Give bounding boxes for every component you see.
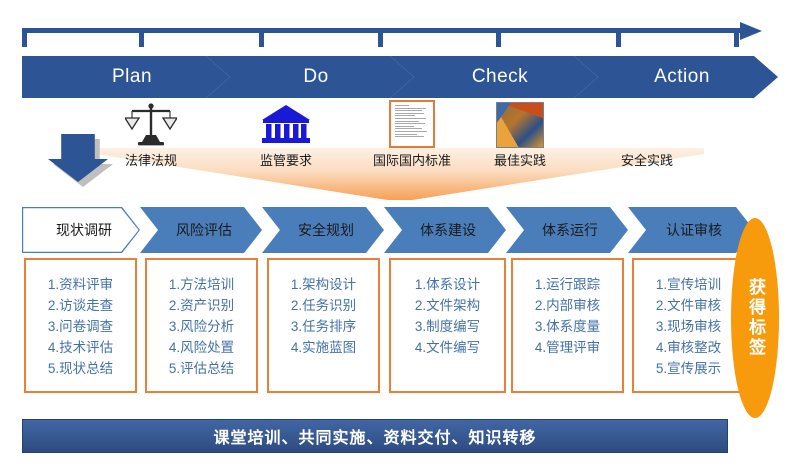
timeline-tick — [496, 33, 501, 47]
detail-item: 2.文件审核 — [656, 295, 721, 316]
detail-item: 2.内部审核 — [535, 295, 600, 316]
detail-item: 4.管理评审 — [535, 337, 600, 358]
detail-list: 1.架构设计 2.任务识别 3.任务排序 4.实施蓝图 — [291, 274, 356, 358]
input-item-securitypractice: 安全实践 — [597, 100, 697, 169]
step-arrow-3[interactable]: 安全规划 — [262, 207, 384, 253]
photo-thumbnail-icon — [477, 100, 563, 148]
pdca-phase-plan[interactable]: Plan — [22, 56, 230, 98]
detail-box-6: 1.宣传培训 2.文件审核 3.现场审核 4.审核整改 5.宣传展示 — [632, 258, 745, 393]
detail-item: 1.运行跟踪 — [535, 274, 600, 295]
detail-item: 1.宣传培训 — [656, 274, 721, 295]
detail-item: 4.技术评估 — [48, 337, 113, 358]
detail-list: 1.方法培训 2.资产识别 3.风险分析 4.风险处置 5.评估总结 — [169, 274, 234, 379]
step-arrow-1[interactable]: 现状调研 — [22, 207, 140, 253]
step-arrow-5[interactable]: 体系运行 — [506, 207, 628, 253]
detail-item: 5.现状总结 — [48, 358, 113, 379]
detail-item: 2.资产识别 — [169, 295, 234, 316]
right-arrow-icon — [740, 22, 762, 40]
empty-icon-slot — [597, 100, 697, 148]
detail-item: 5.宣传展示 — [656, 358, 721, 379]
detail-item: 1.体系设计 — [415, 274, 480, 295]
step-label: 风险评估 — [176, 220, 232, 240]
slide-canvas: Plan Do Check Action — [0, 0, 800, 467]
status-badge-label: 获得标签 — [744, 278, 766, 358]
step-label: 安全规划 — [298, 220, 354, 240]
detail-box-1: 1.资料评审 2.访谈走查 3.问卷调查 4.技术评估 5.现状总结 — [24, 258, 137, 393]
pdca-chevron-bar: Plan Do Check Action — [22, 56, 778, 98]
pdca-phase-action[interactable]: Action — [574, 56, 778, 98]
detail-item: 3.任务排序 — [291, 316, 356, 337]
timeline-tick — [259, 33, 264, 47]
detail-item: 3.制度编写 — [415, 316, 480, 337]
status-badge[interactable]: 获得标签 — [731, 218, 779, 418]
scales-of-justice-icon — [108, 100, 194, 148]
timeline-tick — [139, 33, 144, 47]
detail-item: 1.架构设计 — [291, 274, 356, 295]
detail-item: 5.评估总结 — [169, 358, 234, 379]
step-label: 体系建设 — [420, 220, 476, 240]
detail-item: 1.资料评审 — [48, 274, 113, 295]
detail-box-2: 1.方法培训 2.资产识别 3.风险分析 4.风险处置 5.评估总结 — [145, 258, 258, 393]
input-item-label: 最佳实践 — [477, 150, 563, 169]
step-arrow-2[interactable]: 风险评估 — [140, 207, 262, 253]
input-item-label: 监管要求 — [243, 150, 329, 169]
step-label: 现状调研 — [56, 220, 112, 240]
process-timeline — [22, 28, 778, 50]
pdca-phase-do[interactable]: Do — [206, 56, 414, 98]
pdca-phase-label: Action — [654, 66, 710, 88]
input-item-label: 国际国内标准 — [357, 150, 467, 169]
detail-list: 1.宣传培训 2.文件审核 3.现场审核 4.审核整改 5.宣传展示 — [656, 274, 721, 379]
detail-item: 3.现场审核 — [656, 316, 721, 337]
detail-item: 1.方法培训 — [169, 274, 234, 295]
detail-box-5: 1.运行跟踪 2.内部审核 3.体系度量 4.管理评审 — [511, 258, 624, 393]
detail-item: 4.实施蓝图 — [291, 337, 356, 358]
input-item-laws: 法律法规 — [108, 100, 194, 169]
pdca-phase-label: Plan — [112, 66, 152, 88]
step-label: 体系运行 — [542, 220, 598, 240]
pdca-phase-label: Check — [472, 66, 528, 88]
timeline-tick — [616, 33, 621, 47]
detail-item: 3.问卷调查 — [48, 316, 113, 337]
document-page-icon — [357, 100, 467, 148]
bank-building-icon — [243, 100, 329, 148]
step-arrow-4[interactable]: 体系建设 — [384, 207, 506, 253]
detail-item: 4.审核整改 — [656, 337, 721, 358]
detail-item: 2.访谈走查 — [48, 295, 113, 316]
input-item-bestpractice: 最佳实践 — [477, 100, 563, 169]
step-label: 认证审核 — [666, 220, 722, 240]
detail-list: 1.资料评审 2.访谈走查 3.问卷调查 4.技术评估 5.现状总结 — [48, 274, 113, 379]
detail-list: 1.运行跟踪 2.内部审核 3.体系度量 4.管理评审 — [535, 274, 600, 358]
step-arrow-6[interactable]: 认证审核 — [628, 207, 754, 253]
timeline-tick — [734, 33, 739, 47]
detail-list: 1.体系设计 2.文件架构 3.制度编写 4.文件编写 — [415, 274, 480, 358]
input-item-label: 安全实践 — [597, 150, 697, 169]
detail-item: 4.风险处置 — [169, 337, 234, 358]
detail-box-3: 1.架构设计 2.任务识别 3.任务排序 4.实施蓝图 — [267, 258, 380, 393]
detail-item: 2.文件架构 — [415, 295, 480, 316]
detail-item: 2.任务识别 — [291, 295, 356, 316]
pdca-phase-check[interactable]: Check — [390, 56, 598, 98]
input-item-regulation: 监管要求 — [243, 100, 329, 169]
timeline-tick — [22, 33, 27, 47]
timeline-tick — [378, 33, 383, 47]
footer-label: 课堂培训、共同实施、资料交付、知识转移 — [213, 424, 536, 448]
detail-item: 3.风险分析 — [169, 316, 234, 337]
timeline-line — [22, 28, 746, 33]
pdca-phase-label: Do — [303, 66, 328, 88]
input-item-label: 法律法规 — [108, 150, 194, 169]
detail-item: 4.文件编写 — [415, 337, 480, 358]
detail-box-4: 1.体系设计 2.文件架构 3.制度编写 4.文件编写 — [389, 258, 506, 393]
footer-banner: 课堂培训、共同实施、资料交付、知识转移 — [22, 419, 728, 453]
input-item-standards: 国际国内标准 — [357, 100, 467, 169]
detail-item: 3.体系度量 — [535, 316, 600, 337]
